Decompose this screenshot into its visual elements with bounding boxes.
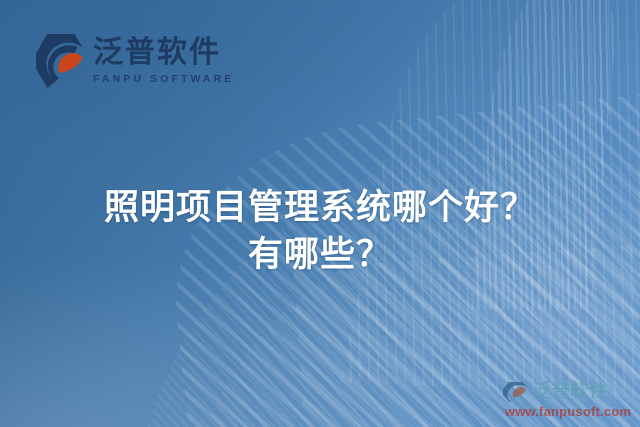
page-title-line-2: 有哪些？	[0, 231, 640, 278]
watermark-url: www.fanpusoft.com	[502, 405, 634, 419]
page-title: 照明项目管理系统哪个好？ 有哪些？	[0, 184, 640, 278]
watermark-brand: 泛普软件	[502, 381, 634, 403]
brand-name-cn: 泛普软件	[93, 37, 234, 68]
watermark-brand-name: 泛普软件	[532, 382, 608, 401]
brand-name-en: FANPU SOFTWARE	[93, 73, 234, 85]
fanpu-watermark-mark-icon	[502, 381, 528, 403]
brand-wordmark: 泛普软件 FANPU SOFTWARE	[93, 37, 234, 84]
page-title-line-1: 照明项目管理系统哪个好？	[0, 184, 640, 231]
promo-banner: 泛普软件 FANPU SOFTWARE 照明项目管理系统哪个好？ 有哪些？ 泛普…	[0, 0, 640, 427]
watermark: 泛普软件 www.fanpusoft.com	[502, 381, 634, 419]
brand-logo[interactable]: 泛普软件 FANPU SOFTWARE	[34, 32, 234, 90]
fanpu-logo-mark-icon	[34, 32, 84, 90]
